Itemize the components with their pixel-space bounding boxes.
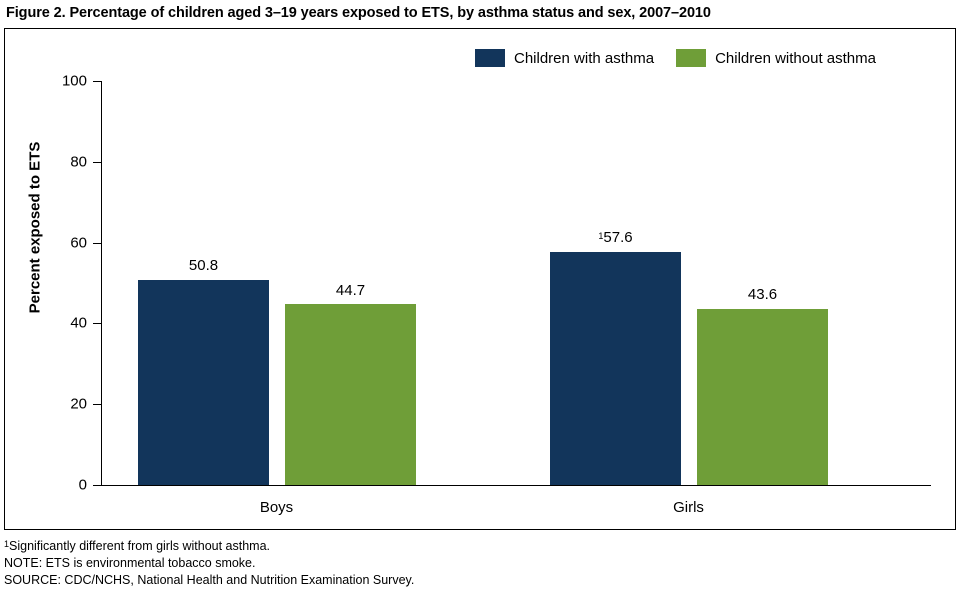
legend-swatch-with-asthma (475, 49, 505, 67)
y-tick-40 (93, 323, 101, 324)
y-tick-0 (93, 485, 101, 486)
legend-item-without-asthma: Children without asthma (676, 49, 876, 67)
footnotes: 1Significantly different from girls with… (4, 536, 414, 589)
x-axis-line (101, 485, 931, 486)
x-category-label-girls: Girls (623, 499, 754, 516)
bar-value-boys-without-asthma: 44.7 (285, 282, 416, 299)
bar-boys-with-asthma (138, 280, 269, 485)
legend-label-with-asthma: Children with asthma (514, 50, 654, 67)
y-tick-label-20: 20 (25, 396, 87, 413)
bar-value-boys-with-asthma: 50.8 (138, 257, 269, 274)
y-axis-title: Percent exposed to ETS (27, 68, 44, 388)
legend-swatch-without-asthma (676, 49, 706, 67)
bar-value-girls-without-asthma: 43.6 (697, 286, 828, 303)
footnote-source: SOURCE: CDC/NCHS, National Health and Nu… (4, 572, 414, 589)
legend-item-with-asthma: Children with asthma (475, 49, 654, 67)
footnote-significance: 1Significantly different from girls with… (4, 536, 414, 555)
bar-boys-without-asthma (285, 304, 416, 485)
plot-area: 50.8 44.7 Boys 157.6 43.6 Girls (101, 81, 931, 485)
y-tick-60 (93, 243, 101, 244)
x-category-label-boys: Boys (211, 499, 342, 516)
figure-title: Figure 2. Percentage of children aged 3–… (6, 5, 711, 21)
bar-value-girls-with-asthma: 157.6 (550, 229, 681, 246)
legend: Children with asthma Children without as… (475, 49, 876, 67)
y-tick-20 (93, 404, 101, 405)
footnote-significance-text: Significantly different from girls witho… (9, 539, 270, 553)
legend-label-without-asthma: Children without asthma (715, 50, 876, 67)
y-tick-100 (93, 81, 101, 82)
bar-girls-with-asthma (550, 252, 681, 485)
footnote-note: NOTE: ETS is environmental tobacco smoke… (4, 555, 414, 572)
y-tick-label-0: 0 (25, 477, 87, 494)
y-tick-80 (93, 162, 101, 163)
bar-value-girls-with-asthma-text: 57.6 (603, 229, 632, 246)
bar-girls-without-asthma (697, 309, 828, 485)
chart-frame: Children with asthma Children without as… (4, 28, 956, 530)
